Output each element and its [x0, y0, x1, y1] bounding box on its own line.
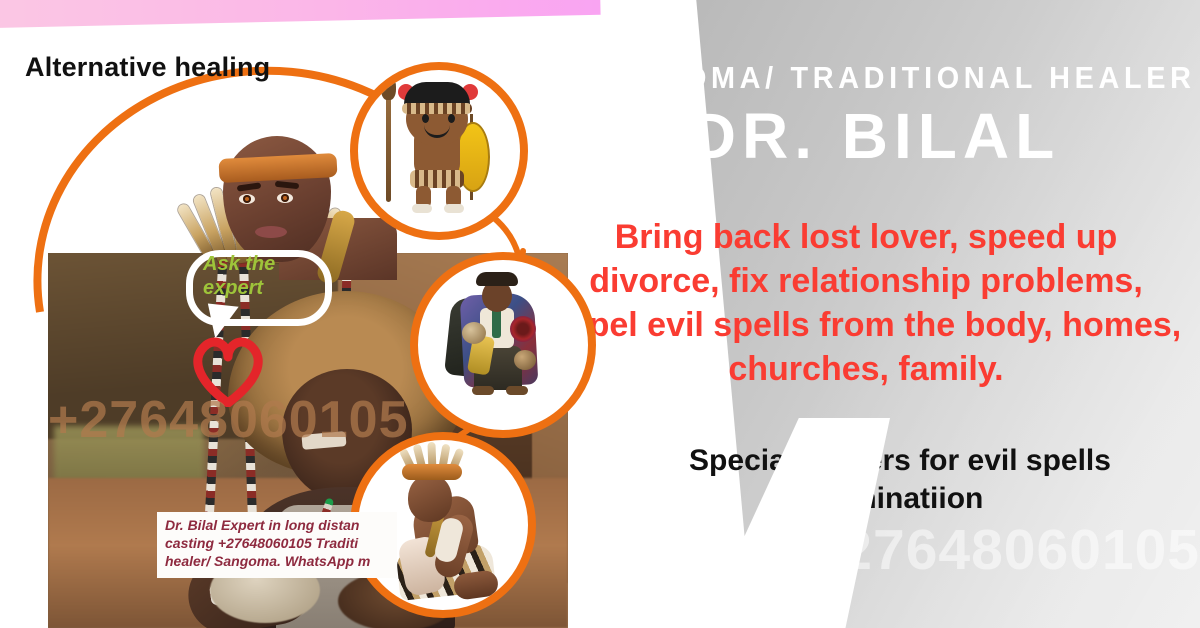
- hat: [476, 272, 518, 286]
- photo-caption-box: Dr. Bilal Expert in long distan casting …: [157, 512, 397, 578]
- services-text: Bring back lost lover, speed up divorce,…: [546, 216, 1186, 391]
- pupil: [243, 195, 251, 203]
- feather-crown: [402, 464, 462, 480]
- gourd: [514, 350, 536, 370]
- speech-bubble-text: Ask the expert: [203, 253, 321, 300]
- spear-shaft: [386, 84, 391, 202]
- magic-swirl: [510, 316, 536, 342]
- healer-name: DR. BILAL: [560, 103, 1190, 170]
- gourd: [462, 322, 486, 344]
- shoe: [472, 386, 494, 395]
- caption-line-3: healer/ Sangoma. WhatsApp m: [165, 553, 389, 571]
- kicker-text: SANGOMA/ TRADITIONAL HEALER: [582, 62, 1168, 95]
- special-offer-text: Special prayers for evil spells eliminat…: [614, 442, 1186, 518]
- node-zulu-warrior[interactable]: [350, 62, 528, 240]
- promotional-poster: Alternative healing: [0, 0, 1200, 628]
- headband: [402, 103, 472, 114]
- shoe: [506, 386, 528, 395]
- phone-watermark: +27648060105: [620, 522, 1200, 579]
- photo-phone-watermark: +27648060105: [48, 390, 409, 450]
- node-traditional-diviner[interactable]: [410, 252, 596, 438]
- warrior-head: [408, 474, 452, 522]
- necktie: [492, 308, 501, 338]
- page-title: Alternative healing: [25, 52, 270, 83]
- mouth: [255, 226, 287, 238]
- foot: [444, 204, 464, 213]
- pink-accent-bar: [0, 0, 601, 28]
- spear-tip: [381, 74, 396, 100]
- foot: [412, 204, 432, 213]
- caption-line-1: Dr. Bilal Expert in long distan: [165, 517, 389, 535]
- pupil: [281, 194, 289, 202]
- caption-line-2: casting +27648060105 Traditi: [165, 535, 389, 553]
